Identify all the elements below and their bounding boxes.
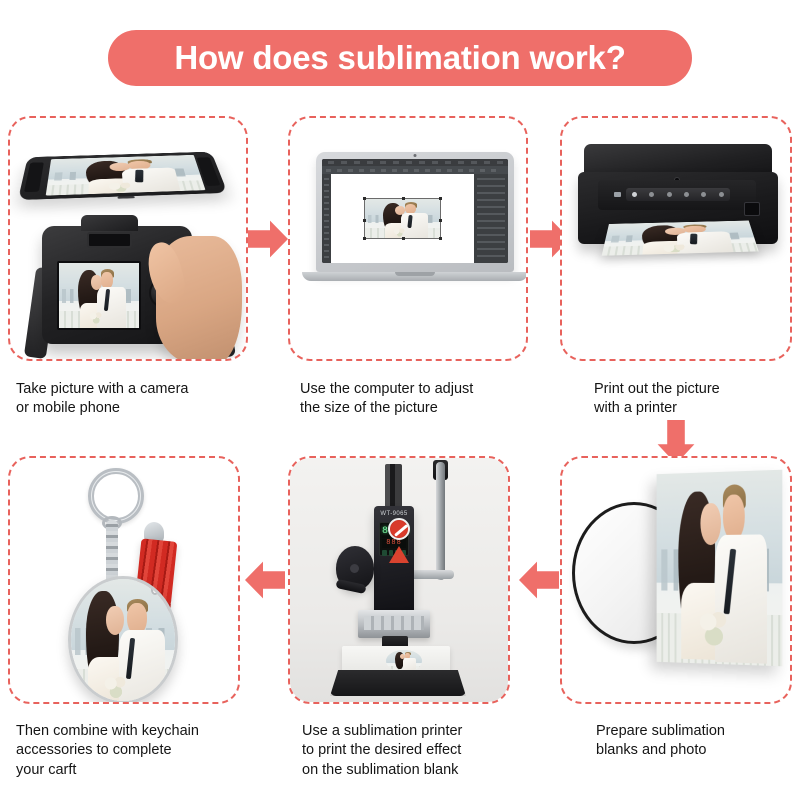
- step-3-caption: Print out the picture with a printer: [594, 380, 794, 419]
- arrow-step5-to-step6-icon: [245, 560, 285, 600]
- step-1-caption: Take picture with a camera or mobile pho…: [16, 380, 251, 419]
- selected-photo-on-canvas: [365, 199, 439, 238]
- laptop-screen: [322, 159, 508, 263]
- step-6-illustration: [10, 458, 238, 702]
- laptop-notch: [395, 272, 435, 276]
- couple-photo: [46, 155, 206, 196]
- printer-icon: [578, 144, 778, 256]
- hand-holding-camera: [156, 236, 242, 359]
- step-panel-4: [560, 456, 792, 704]
- arrow-step4-to-step5-icon: [519, 560, 559, 600]
- step-panel-6: [8, 456, 240, 704]
- step-5-illustration: WT-9065 8888 888: [290, 458, 508, 702]
- editor-toolbar: [322, 174, 331, 263]
- step-5-caption: Use a sublimation printer to print the d…: [302, 722, 542, 780]
- blank-on-tray-with-photo: [386, 650, 422, 672]
- step-1-illustration: [10, 118, 246, 359]
- printed-photo-sheet: [657, 470, 783, 667]
- step-2-illustration: [290, 118, 526, 359]
- press-model-label: WT-9065: [374, 511, 414, 517]
- phone-home-indicator: [118, 196, 135, 199]
- printed-photo-output: [602, 221, 759, 256]
- camera-hotshoe: [81, 215, 138, 231]
- page-title: How does sublimation work?: [108, 30, 692, 86]
- step-panel-1: [8, 116, 248, 361]
- keychain-chain: [106, 520, 118, 584]
- printer-control-buttons: [626, 188, 730, 201]
- finished-photo-keychain-disc: [68, 576, 178, 702]
- press-base-plate: [330, 670, 466, 696]
- press-lever-handle: [436, 462, 445, 580]
- no-touch-warning-icon: [388, 518, 410, 540]
- press-heating-platen: [358, 610, 430, 638]
- camera-viewfinder: [87, 232, 132, 248]
- step-panel-5: WT-9065 8888 888: [288, 456, 510, 704]
- editor-options-bar: [322, 166, 508, 174]
- disc-hole: [151, 585, 159, 595]
- camera-lcd-screen: [57, 261, 141, 329]
- laptop-webcam-icon: [414, 154, 417, 157]
- step-panel-2: [288, 116, 528, 361]
- printer-card-slot: [744, 202, 760, 216]
- arrow-step1-to-step2-icon: [248, 219, 288, 259]
- phone-screen: [46, 155, 206, 196]
- editor-canvas: [331, 174, 474, 263]
- step-2-caption: Use the computer to adjust the size of t…: [300, 380, 535, 419]
- phone-bezel-left: [24, 162, 44, 192]
- smartphone-icon: [18, 152, 228, 200]
- laptop-lid: [316, 152, 514, 272]
- step-4-caption: Prepare sublimation blanks and photo: [596, 722, 796, 761]
- step-6-caption: Then combine with keychain accessories t…: [16, 722, 266, 780]
- editor-side-panels: [474, 174, 508, 263]
- step-4-illustration: [562, 458, 790, 702]
- infographic-root: How does sublimation work?: [0, 0, 800, 800]
- step-3-illustration: [562, 118, 790, 359]
- hot-surface-warning-icon: [389, 546, 409, 563]
- printer-power-led: [614, 192, 621, 197]
- editor-menu-bar: [322, 159, 508, 166]
- step-panel-3: [560, 116, 792, 361]
- laptop-icon: [316, 152, 514, 284]
